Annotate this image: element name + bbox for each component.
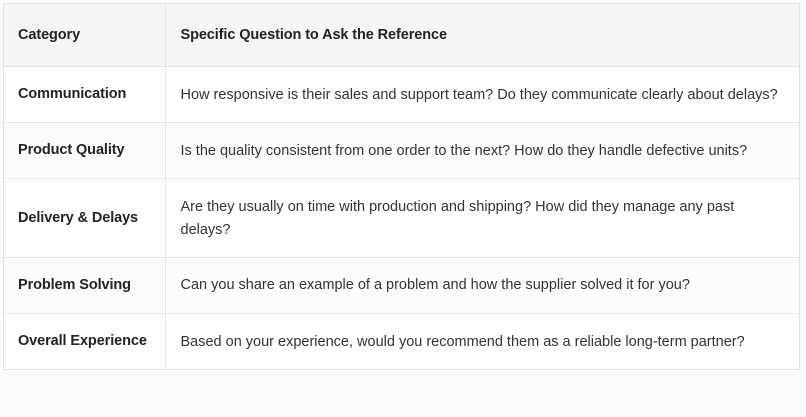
cell-question: Based on your experience, would you reco…: [165, 313, 799, 369]
cell-category: Delivery & Delays: [4, 179, 165, 258]
column-header-question: Specific Question to Ask the Reference: [165, 4, 799, 66]
table-header-row: Category Specific Question to Ask the Re…: [4, 4, 799, 66]
column-header-category: Category: [4, 4, 165, 66]
cell-category: Product Quality: [4, 122, 165, 178]
table-row: Communication How responsive is their sa…: [4, 66, 799, 122]
cell-question: How responsive is their sales and suppor…: [165, 66, 799, 122]
cell-category: Problem Solving: [4, 258, 165, 313]
reference-questions-table: Category Specific Question to Ask the Re…: [4, 4, 799, 369]
table-row: Overall Experience Based on your experie…: [4, 313, 799, 369]
cell-question: Can you share an example of a problem an…: [165, 258, 799, 313]
table-row: Product Quality Is the quality consisten…: [4, 122, 799, 178]
cell-category: Communication: [4, 66, 165, 122]
cell-question: Are they usually on time with production…: [165, 179, 799, 258]
cell-category: Overall Experience: [4, 313, 165, 369]
table-body: Communication How responsive is their sa…: [4, 66, 799, 369]
reference-questions-table-container: Category Specific Question to Ask the Re…: [3, 3, 800, 370]
table-row: Problem Solving Can you share an example…: [4, 258, 799, 313]
page-container: Category Specific Question to Ask the Re…: [0, 0, 806, 417]
table-row: Delivery & Delays Are they usually on ti…: [4, 179, 799, 258]
cell-question: Is the quality consistent from one order…: [165, 122, 799, 178]
table-header: Category Specific Question to Ask the Re…: [4, 4, 799, 66]
